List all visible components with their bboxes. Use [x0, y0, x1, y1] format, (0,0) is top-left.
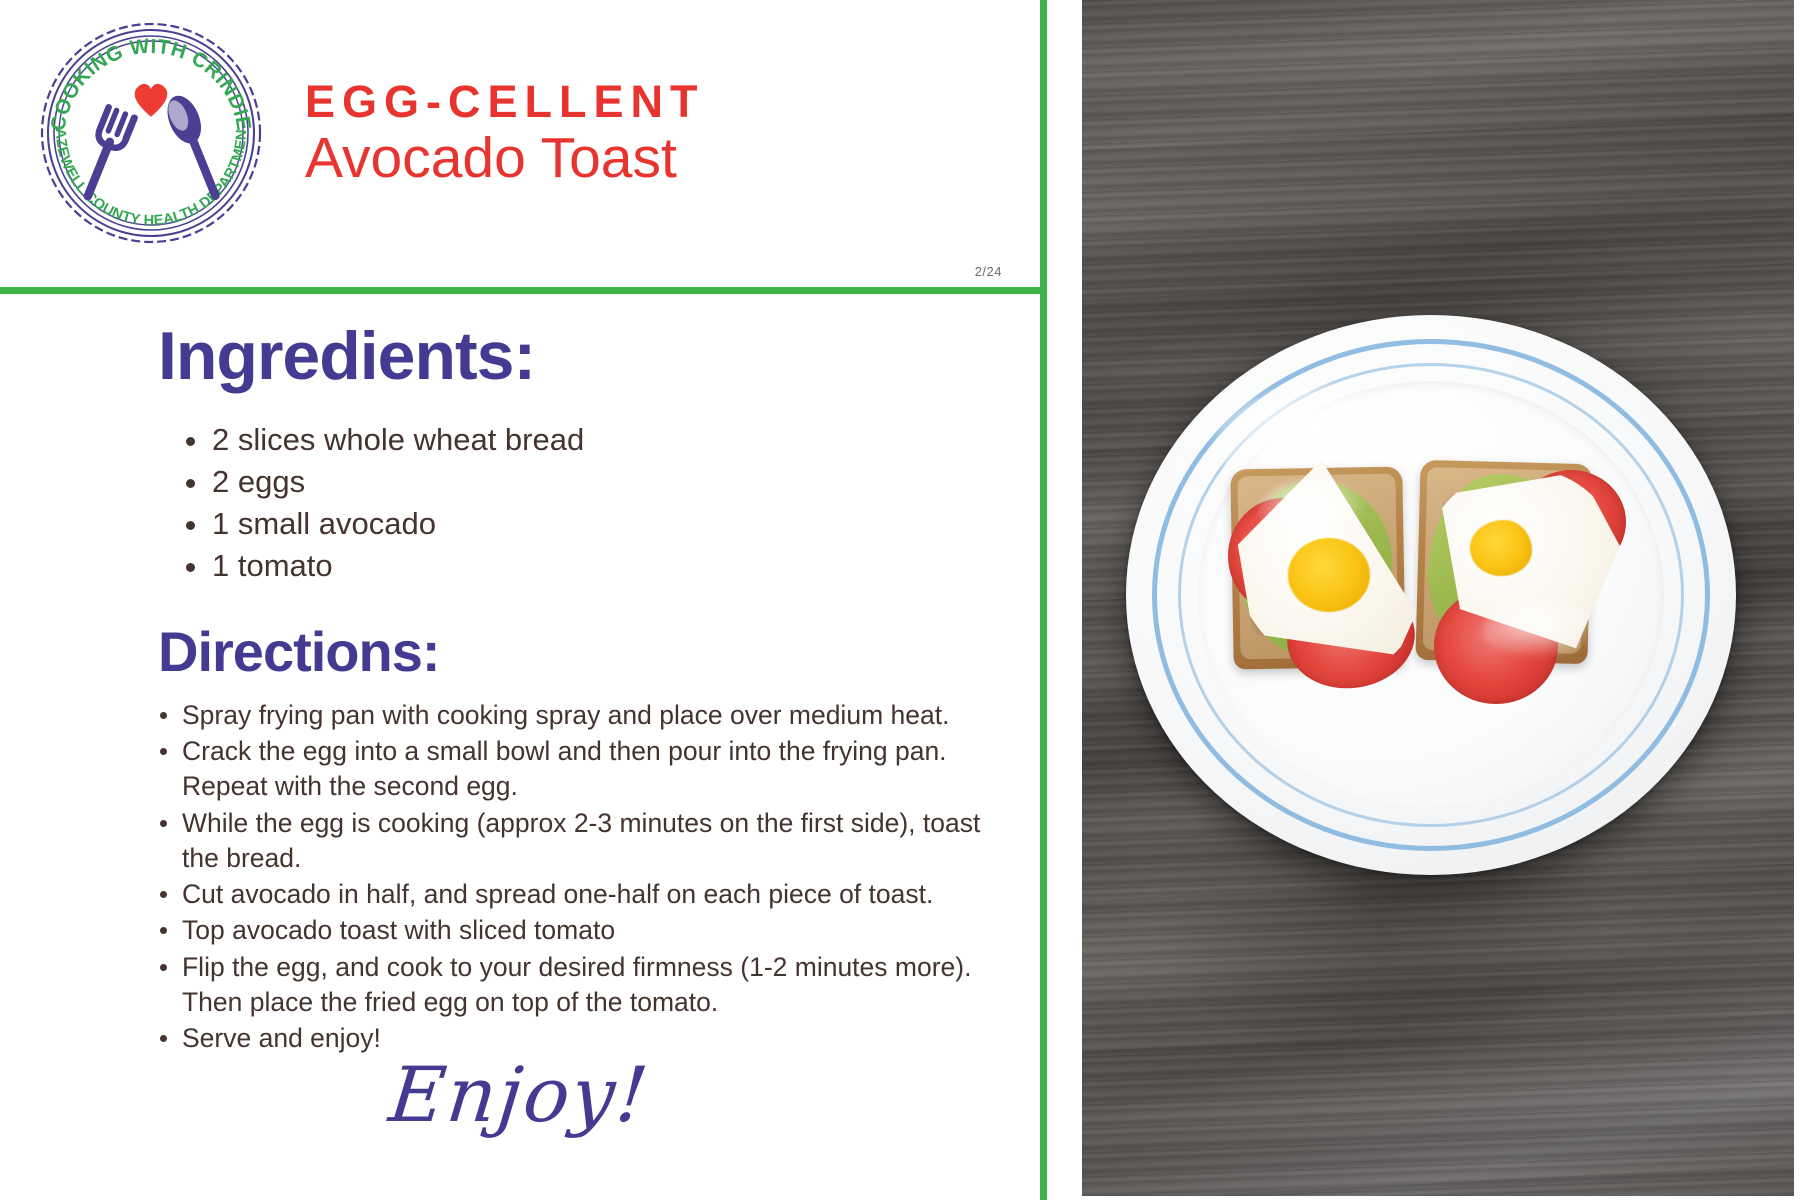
- page-number: 2/24: [975, 264, 1002, 279]
- list-item: Cut avocado in half, and spread one-half…: [152, 877, 1002, 912]
- list-item: 1 tomato: [170, 545, 930, 587]
- egg-highlight: [1482, 600, 1602, 660]
- recipe-card-page: COOKING WITH CRINDIE TAZEWELL COUNTY HEA…: [0, 0, 1800, 1200]
- list-item: 2 eggs: [170, 461, 930, 503]
- recipe-title-secondary: Avocado Toast: [305, 129, 705, 189]
- egg-yolk-left: [1288, 538, 1370, 612]
- list-item: Flip the egg, and cook to your desired f…: [152, 950, 1002, 1020]
- recipe-title-primary: EGG-CELLENT: [305, 78, 705, 125]
- header-divider: [0, 287, 1042, 294]
- list-item: Crack the egg into a small bowl and then…: [152, 734, 1002, 804]
- egg-highlight: [1258, 480, 1368, 540]
- list-item: 2 slices whole wheat bread: [170, 419, 930, 461]
- brand-logo: COOKING WITH CRINDIE TAZEWELL COUNTY HEA…: [36, 18, 266, 248]
- list-item: While the egg is cooking (approx 2-3 min…: [152, 806, 1002, 876]
- enjoy-script-text: Enjoy!: [385, 1050, 654, 1139]
- directions-list: Spray frying pan with cooking spray and …: [152, 698, 1002, 1057]
- recipe-photo: [1082, 0, 1794, 1196]
- directions-heading: Directions:: [158, 624, 440, 680]
- ingredients-heading: Ingredients:: [158, 322, 535, 390]
- title-block: EGG-CELLENT Avocado Toast: [305, 78, 705, 189]
- card-header: COOKING WITH CRINDIE TAZEWELL COUNTY HEA…: [0, 0, 1042, 287]
- ingredients-list: 2 slices whole wheat bread 2 eggs 1 smal…: [170, 419, 930, 588]
- list-item: 1 small avocado: [170, 503, 930, 545]
- list-item: Spray frying pan with cooking spray and …: [152, 698, 1002, 733]
- egg-yolk-right: [1470, 520, 1532, 576]
- list-item: Top avocado toast with sliced tomato: [152, 913, 1002, 948]
